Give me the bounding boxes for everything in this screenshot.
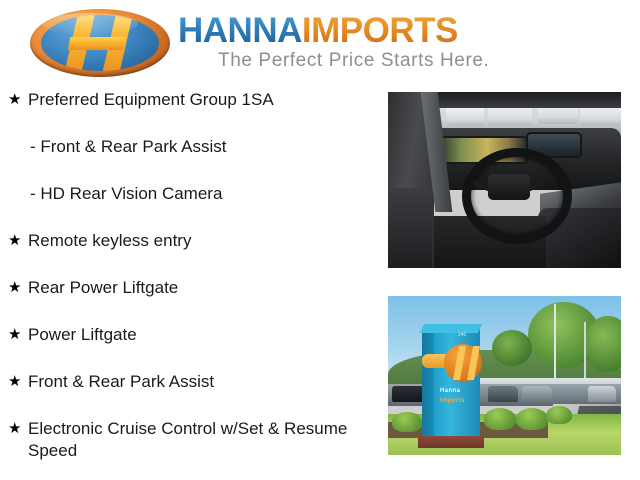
parked-car: [488, 386, 518, 402]
list-item: ★ Remote keyless entry: [0, 229, 382, 276]
light-pole: [554, 304, 556, 388]
list-item: - HD Rear Vision Camera: [0, 182, 382, 229]
list-item-label: - Front & Rear Park Assist: [30, 135, 382, 158]
shrub: [516, 408, 548, 430]
list-item-label: - HD Rear Vision Camera: [30, 182, 382, 205]
sign-text-imports: Imports: [440, 398, 480, 404]
brand-wordmark: HANNAIMPORTS: [178, 12, 458, 50]
list-item: ★ Rear Power Liftgate: [0, 276, 382, 323]
parked-car: [522, 386, 552, 402]
list-item-label: Preferred Equipment Group 1SA: [28, 88, 382, 111]
logo-h-crossbar: [67, 37, 125, 50]
star-bullet-icon: ★: [8, 419, 21, 439]
brand-tagline: The Perfect Price Starts Here.: [218, 50, 489, 72]
shrub: [392, 412, 422, 432]
tree: [492, 330, 532, 366]
vehicle-interior-photo[interactable]: [388, 92, 621, 268]
monument-sign: [434, 324, 480, 442]
star-bullet-icon: ★: [8, 325, 21, 345]
hanna-oval-h-logo-icon: [30, 9, 170, 77]
list-item-label: Remote keyless entry: [28, 229, 382, 252]
star-bullet-icon: ★: [8, 231, 21, 251]
logo-oval-field: [41, 15, 159, 71]
shrub: [546, 406, 572, 424]
monument-sign-cap: [420, 324, 482, 333]
background-car: [446, 106, 484, 126]
list-item-label: Power Liftgate: [28, 323, 382, 346]
monument-sign-brick-base: [418, 436, 484, 448]
brand-header: HANNAIMPORTS The Perfect Price Starts He…: [0, 0, 640, 86]
list-item-label: Front & Rear Park Assist: [28, 370, 382, 393]
parked-car: [588, 386, 616, 402]
star-bullet-icon: ★: [8, 372, 21, 392]
parked-car: [392, 386, 426, 402]
star-bullet-icon: ★: [8, 90, 21, 110]
star-bullet-icon: ★: [8, 278, 21, 298]
list-item: ★ Preferred Equipment Group 1SA: [0, 88, 382, 135]
shrub: [484, 408, 516, 430]
brand-wordmark-hanna: HANNA: [178, 11, 302, 50]
list-item: - Front & Rear Park Assist: [0, 135, 382, 182]
steering-wheel-hub: [488, 174, 530, 200]
list-item: ★ Power Liftgate: [0, 323, 382, 370]
list-item: ★ Front & Rear Park Assist: [0, 370, 382, 417]
list-item: ★ Electronic Cruise Control w/Set & Resu…: [0, 417, 382, 464]
list-item-label: Electronic Cruise Control w/Set & Resume…: [28, 417, 382, 462]
sign-address-number: 240: [458, 332, 466, 338]
brand-wordmark-imports: IMPORTS: [302, 11, 458, 50]
vehicle-feature-list: ★ Preferred Equipment Group 1SA - Front …: [0, 88, 382, 464]
sign-text-hanna: Hanna: [440, 388, 480, 394]
list-item-label: Rear Power Liftgate: [28, 276, 382, 299]
door-panel: [388, 188, 432, 268]
dealership-exterior-photo[interactable]: 240 Hanna Imports: [388, 296, 621, 455]
